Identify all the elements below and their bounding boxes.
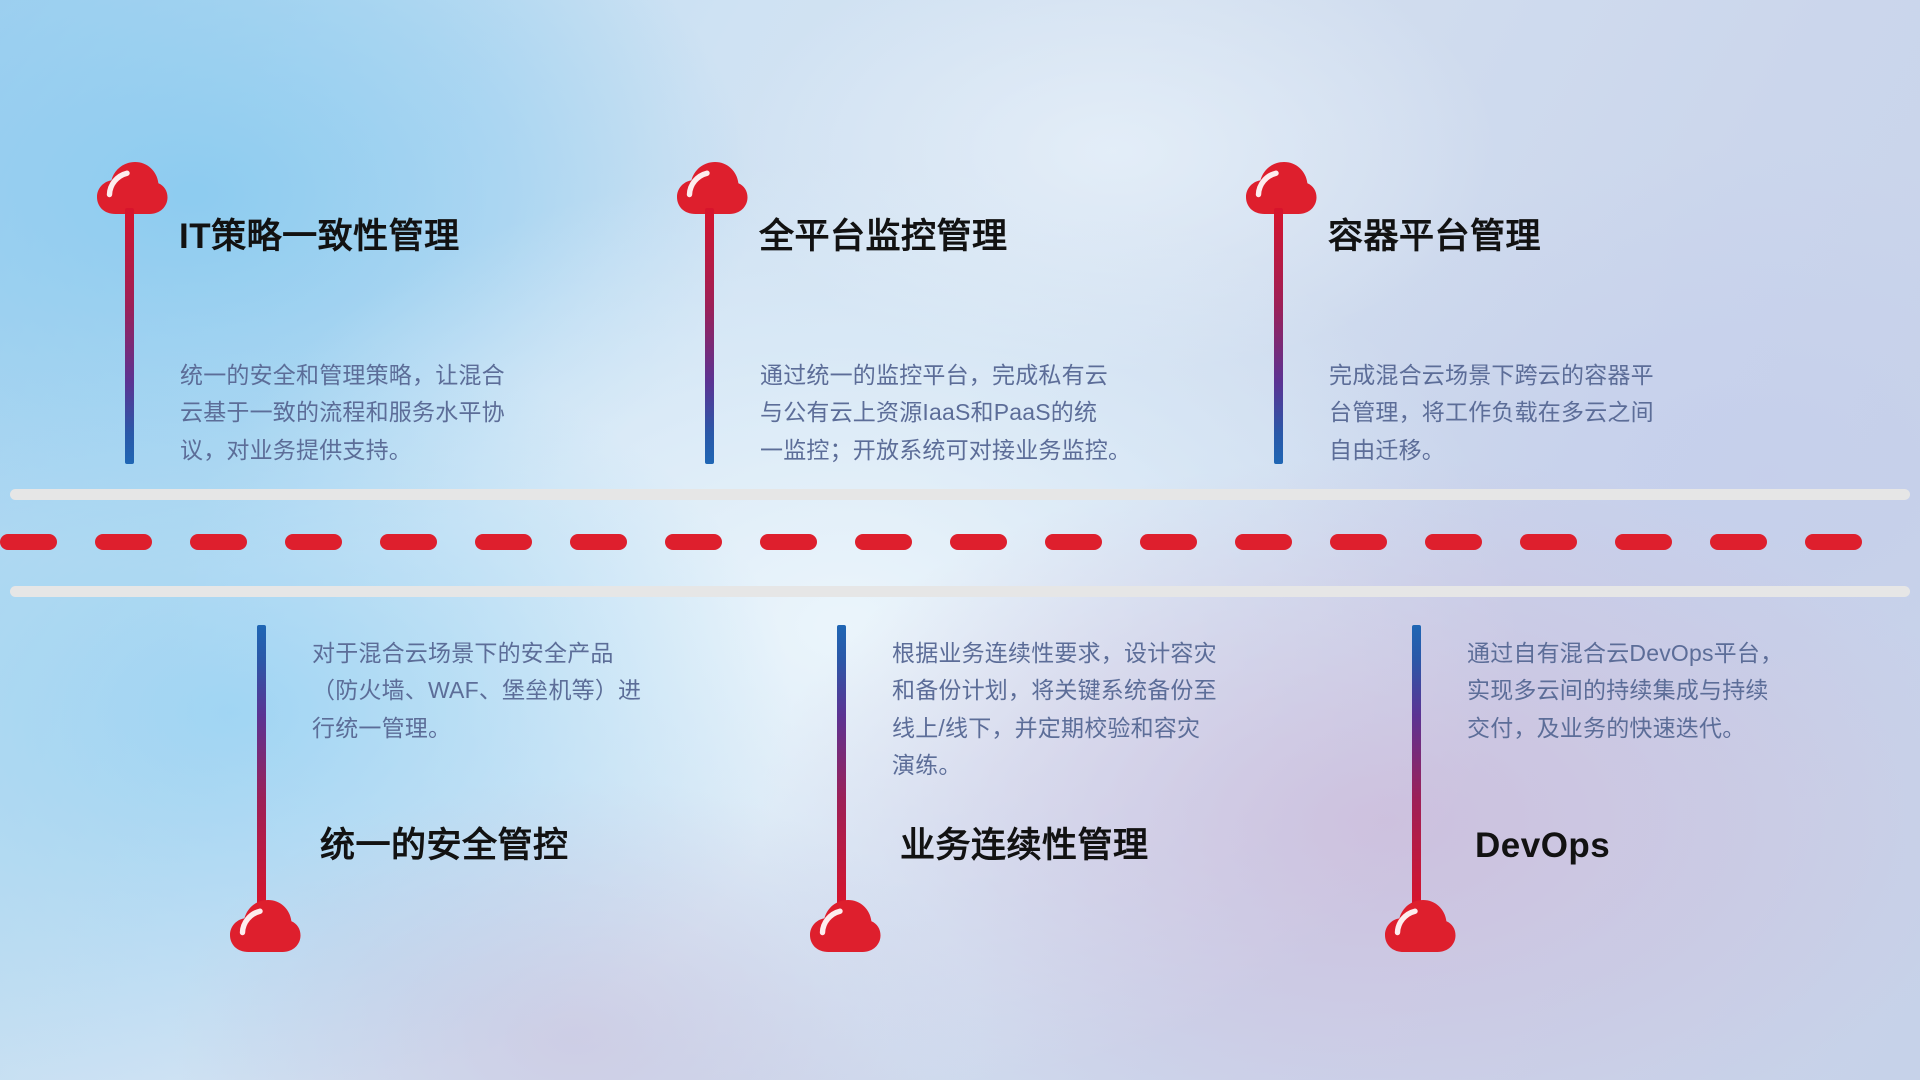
card-body-line: 对于混合云场景下的安全产品 [312,635,742,672]
road-dash [0,534,57,550]
road-dash [95,534,152,550]
road-dash [1140,534,1197,550]
card-body-line: 行统一管理。 [312,710,742,747]
connector-stem [257,625,266,907]
road-dash [855,534,912,550]
card-heading: IT策略一致性管理 [179,219,460,254]
card-body-line: 根据业务连续性要求，设计容灾 [892,635,1322,672]
connector-stem [125,208,134,464]
card-body-line: 完成混合云场景下跨云的容器平 [1329,357,1769,394]
card-heading: DevOps [1475,828,1610,863]
road-dash [285,534,342,550]
card-body-line: 与公有云上资源IaaS和PaaS的统 [760,394,1210,431]
card-body: 对于混合云场景下的安全产品 （防火墙、WAF、堡垒机等）进 行统一管理。 [312,635,742,747]
cloud-pin-icon [808,898,882,954]
card-body-line: 演练。 [892,747,1322,784]
connector-stem [837,625,846,907]
road-dash [1805,534,1862,550]
road-dash [190,534,247,550]
card-body-line: 统一的安全和管理策略，让混合 [180,357,610,394]
card-body-line: （防火墙、WAF、堡垒机等）进 [312,672,742,709]
card-heading: 容器平台管理 [1328,219,1541,254]
infographic-canvas: IT策略一致性管理 统一的安全和管理策略，让混合 云基于一致的流程和服务水平协 … [0,0,1920,1080]
road-dash [1710,534,1767,550]
card-body-line: 台管理，将工作负载在多云之间 [1329,394,1769,431]
road-dash [1330,534,1387,550]
road-edge-line-bottom [10,586,1910,597]
card-body-line: 线上/线下，并定期校验和容灾 [892,710,1322,747]
road-dash [380,534,437,550]
road-dash [1045,534,1102,550]
card-body-line: 议，对业务提供支持。 [180,432,610,469]
card-body-line: 和备份计划，将关键系统备份至 [892,672,1322,709]
road-dash [950,534,1007,550]
card-body: 通过自有混合云DevOps平台， 实现多云间的持续集成与持续 交付，及业务的快速… [1467,635,1897,747]
card-body-line: 通过统一的监控平台，完成私有云 [760,357,1210,394]
card-body: 统一的安全和管理策略，让混合 云基于一致的流程和服务水平协 议，对业务提供支持。 [180,357,610,469]
card-body: 根据业务连续性要求，设计容灾 和备份计划，将关键系统备份至 线上/线下，并定期校… [892,635,1322,784]
road-dash [760,534,817,550]
card-body-line: 通过自有混合云DevOps平台， [1467,635,1897,672]
road-dashed-center-line [0,533,1920,550]
road-dash [570,534,627,550]
card-body-line: 实现多云间的持续集成与持续 [1467,672,1897,709]
card-heading: 业务连续性管理 [900,828,1149,863]
card-heading: 全平台监控管理 [759,219,1008,254]
road-dash [1235,534,1292,550]
connector-stem [705,208,714,464]
card-body: 完成混合云场景下跨云的容器平 台管理，将工作负载在多云之间 自由迁移。 [1329,357,1769,469]
card-body-line: 自由迁移。 [1329,432,1769,469]
card-heading: 统一的安全管控 [320,828,569,863]
road-dash [665,534,722,550]
cloud-pin-icon [1383,898,1457,954]
road-edge-line-top [10,489,1910,500]
connector-stem [1274,208,1283,464]
card-body-line: 云基于一致的流程和服务水平协 [180,394,610,431]
card-body-line: 一监控；开放系统可对接业务监控。 [760,432,1210,469]
card-body: 通过统一的监控平台，完成私有云 与公有云上资源IaaS和PaaS的统 一监控；开… [760,357,1210,469]
road-divider [0,483,1920,603]
road-dash [1520,534,1577,550]
road-dash [475,534,532,550]
cloud-pin-icon [228,898,302,954]
road-dash [1615,534,1672,550]
card-body-line: 交付，及业务的快速迭代。 [1467,710,1897,747]
road-dash [1425,534,1482,550]
connector-stem [1412,625,1421,907]
